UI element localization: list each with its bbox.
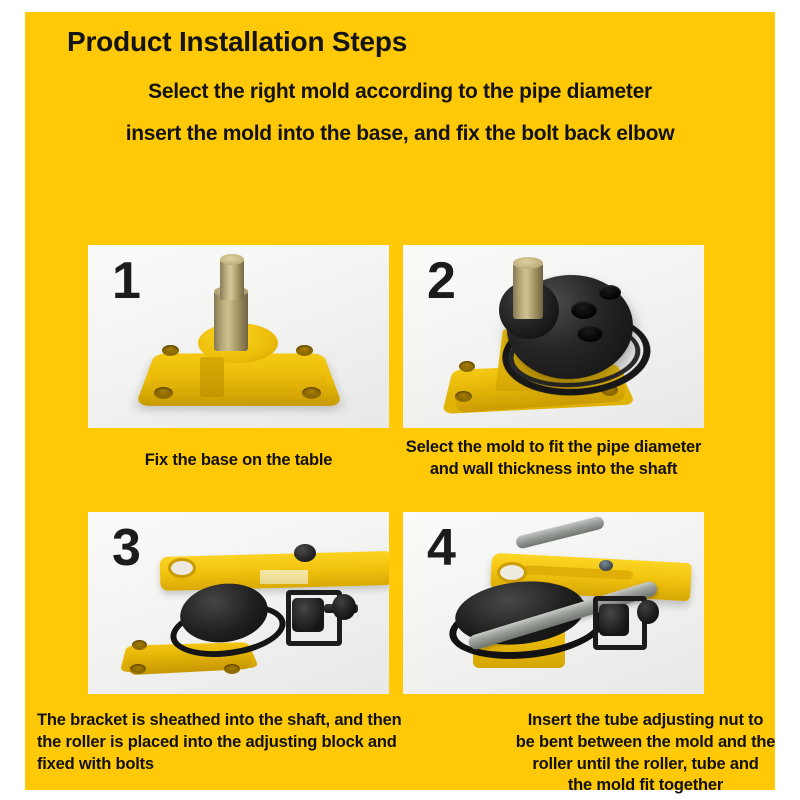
shaft-section <box>513 263 543 319</box>
arm-pivot-eye <box>168 558 196 578</box>
adjusting-nut <box>637 600 659 624</box>
mold-lightening-hole <box>599 285 621 300</box>
bolt-hole <box>224 664 240 674</box>
step-1-photo: 1 <box>88 245 389 428</box>
bolt-hole <box>455 391 472 402</box>
bolt-hole <box>302 387 321 399</box>
step-2-photo: 2 <box>403 245 704 428</box>
step-2-caption: Select the mold to fit the pipe diameter… <box>391 437 716 481</box>
arm-bolt <box>599 560 613 571</box>
step-4-caption: Insert the tube adjusting nut to be bent… <box>493 710 798 797</box>
subtitle-line-1: Select the right mold according to the p… <box>25 80 775 104</box>
subtitle-line-2: insert the mold into the base, and fix t… <box>25 122 775 146</box>
step-number: 3 <box>112 522 141 574</box>
arm-pivot-eye <box>497 562 527 583</box>
adjusting-nut <box>332 594 356 620</box>
step-number: 2 <box>427 255 456 307</box>
bolt-hole <box>296 345 313 356</box>
shaft-lower-section <box>214 291 248 351</box>
mold-lightening-hole <box>577 325 603 342</box>
arm-spec-label <box>260 570 308 584</box>
step-3-photo: 3 <box>88 512 389 694</box>
mold-lightening-hole <box>571 301 597 319</box>
step-number: 4 <box>427 522 456 574</box>
step-4-photo: 4 <box>403 512 704 694</box>
roller <box>599 604 629 636</box>
shaft-upper-section <box>220 260 244 300</box>
step-1-caption: Fix the base on the table <box>88 450 389 472</box>
base-plate-front <box>151 373 326 399</box>
bolt-hole <box>459 361 475 372</box>
step-number: 1 <box>112 255 141 307</box>
step-3-caption: The bracket is sheathed into the shaft, … <box>37 710 492 775</box>
base-notch <box>200 357 224 397</box>
page-title: Product Installation Steps <box>67 26 407 58</box>
bolt-hole <box>132 640 147 650</box>
roller <box>292 598 324 632</box>
arm-knob <box>294 544 316 562</box>
bolt-hole <box>162 345 179 356</box>
bolt-hole <box>130 664 146 674</box>
shaft-top-face <box>513 257 543 269</box>
poster-card: Product Installation Steps Select the ri… <box>25 12 775 790</box>
shaft-top-face <box>220 254 244 265</box>
bolt-hole <box>154 387 173 399</box>
